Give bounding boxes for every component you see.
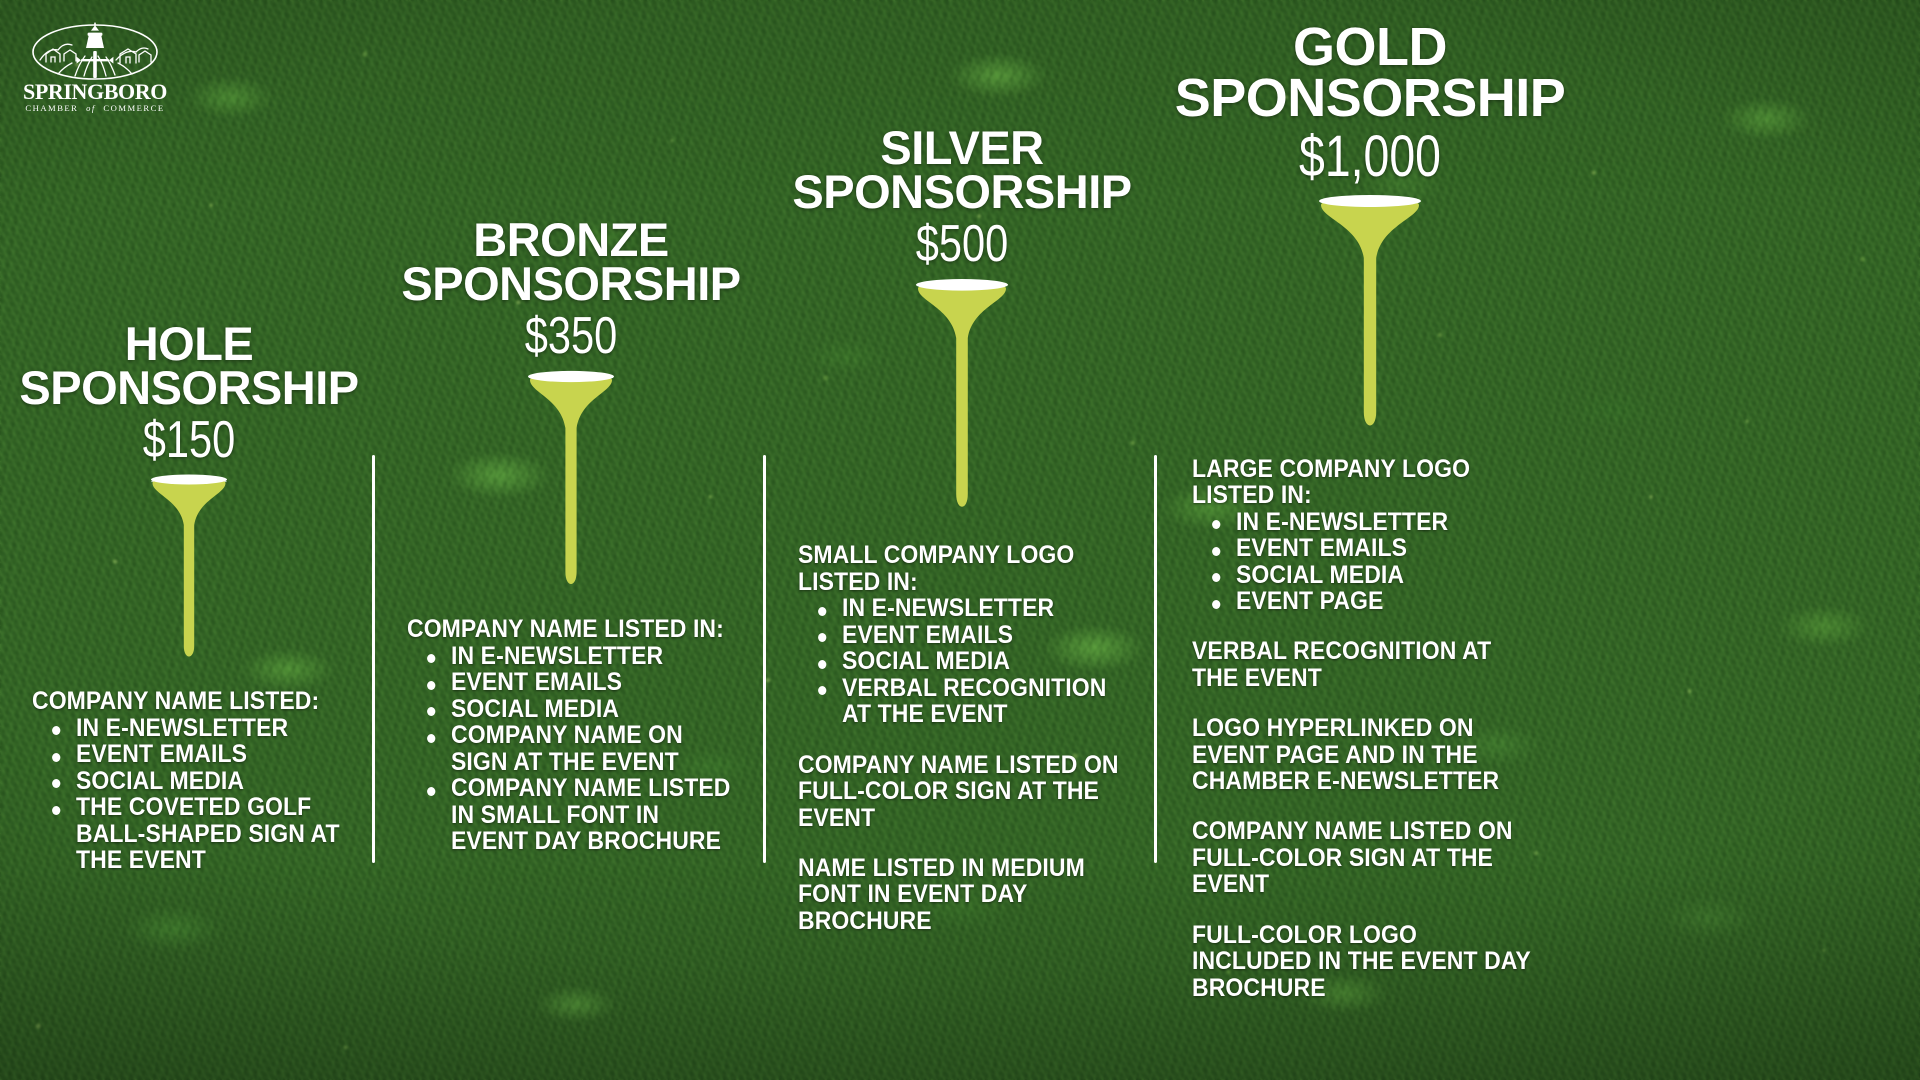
spacer	[1192, 898, 1570, 922]
list-item: SOCIAL MEDIA	[1236, 562, 1543, 589]
golf-tee-icon-bronze	[385, 366, 757, 598]
divider-1	[372, 455, 375, 863]
logo-subwordmark-commerce: COMMERCE	[103, 103, 164, 113]
tier-benefits-list: IN E-NEWSLETTER EVENT EMAILS SOCIAL MEDI…	[1192, 509, 1570, 615]
tier-title-hole: HOLE SPONSORSHIP	[10, 322, 368, 410]
tier-price-hole: $150	[46, 414, 332, 466]
svg-text:CHAMBER of COM: CHAMBER of COMMERCE	[25, 103, 164, 113]
tier-card-gold: GOLD SPONSORSHIP $1,000 LARGE COMPANY LO…	[1170, 22, 1570, 1001]
tier-title-silver: SILVER SPONSORSHIP	[776, 126, 1148, 214]
tier-title-line2: SPONSORSHIP	[1170, 73, 1570, 124]
list-item: EVENT EMAILS	[1236, 535, 1543, 562]
tier-title-line1: SILVER	[776, 126, 1148, 170]
list-item: EVENT EMAILS	[76, 741, 345, 768]
list-item: EVENT PAGE	[1236, 588, 1543, 615]
tier-card-bronze: BRONZE SPONSORSHIP $350 COMPANY NAME LIS…	[385, 218, 757, 855]
list-item: IN E-NEWSLETTER	[842, 595, 1124, 622]
tier-benefit-paragraph: COMPANY NAME LISTED ON FULL-COLOR SIGN A…	[798, 752, 1120, 832]
tier-title-bronze: BRONZE SPONSORSHIP	[385, 218, 757, 306]
list-item: COMPANY NAME ON SIGN AT THE EVENT	[451, 722, 733, 775]
spacer	[798, 728, 1148, 752]
golf-tee-icon-hole	[10, 470, 368, 670]
list-item: SOCIAL MEDIA	[842, 648, 1124, 675]
list-item: IN E-NEWSLETTER	[451, 643, 733, 670]
springboro-chamber-logo[interactable]: SPRINGBORO CHAMBER of COMMERCE	[20, 18, 170, 114]
list-item: EVENT EMAILS	[842, 622, 1124, 649]
tier-benefits-hole: COMPANY NAME LISTED: IN E-NEWSLETTER EVE…	[10, 688, 368, 874]
golf-tee-icon-gold	[1170, 190, 1570, 440]
spacer	[1192, 615, 1570, 639]
divider-3	[1154, 455, 1157, 863]
spacer	[1192, 691, 1570, 715]
list-item: IN E-NEWSLETTER	[1236, 509, 1543, 536]
list-item: COMPANY NAME LISTED IN SMALL FONT IN EVE…	[451, 775, 733, 855]
tier-benefits-gold: LARGE COMPANY LOGO LISTED IN: IN E-NEWSL…	[1170, 456, 1570, 1002]
list-item: VERBAL RECOGNITION AT THE EVENT	[842, 675, 1124, 728]
tier-title-gold: GOLD SPONSORSHIP	[1170, 22, 1570, 124]
tier-benefits-list: IN E-NEWSLETTER EVENT EMAILS SOCIAL MEDI…	[798, 595, 1148, 728]
list-item: THE COVETED GOLF BALL-SHAPED SIGN AT THE…	[76, 794, 345, 874]
spacer	[1192, 795, 1570, 819]
logo-wordmark: SPRINGBORO	[23, 79, 167, 104]
list-item: SOCIAL MEDIA	[451, 696, 733, 723]
tier-benefit-paragraph: NAME LISTED IN MEDIUM FONT IN EVENT DAY …	[798, 855, 1120, 935]
tier-price-silver: $500	[813, 218, 1111, 270]
tier-benefit-paragraph: LOGO HYPERLINKED ON EVENT PAGE AND IN TH…	[1192, 715, 1540, 795]
tier-price-bronze: $350	[422, 310, 720, 362]
tier-benefits-lead: LARGE COMPANY LOGO LISTED IN:	[1192, 456, 1540, 509]
tier-benefits-lead: COMPANY NAME LISTED:	[32, 688, 341, 715]
tier-benefits-lead: COMPANY NAME LISTED IN:	[407, 616, 729, 643]
golf-tee-icon-silver	[776, 274, 1148, 522]
list-item: EVENT EMAILS	[451, 669, 733, 696]
tier-benefits-bronze: COMPANY NAME LISTED IN: IN E-NEWSLETTER …	[385, 616, 757, 855]
list-item: IN E-NEWSLETTER	[76, 715, 345, 742]
tier-title-line1: BRONZE	[385, 218, 757, 262]
tier-title-line1: HOLE	[10, 322, 368, 366]
tier-benefits-lead: SMALL COMPANY LOGO LISTED IN:	[798, 542, 1120, 595]
tier-card-hole: HOLE SPONSORSHIP $150 COMPANY NAME LISTE…	[10, 322, 368, 874]
tier-benefits-silver: SMALL COMPANY LOGO LISTED IN: IN E-NEWSL…	[776, 542, 1148, 934]
logo-subwordmark-of: of	[86, 103, 96, 113]
tier-title-line2: SPONSORSHIP	[10, 366, 368, 410]
tier-benefits-list: IN E-NEWSLETTER EVENT EMAILS SOCIAL MEDI…	[32, 715, 368, 874]
tier-title-line2: SPONSORSHIP	[385, 262, 757, 306]
divider-2	[763, 455, 766, 863]
tier-benefit-paragraph: FULL-COLOR LOGO INCLUDED IN THE EVENT DA…	[1192, 922, 1540, 1002]
spacer	[798, 831, 1148, 855]
logo-subwordmark-chamber: CHAMBER	[25, 103, 78, 113]
tier-benefit-paragraph: VERBAL RECOGNITION AT THE EVENT	[1192, 638, 1540, 691]
list-item: SOCIAL MEDIA	[76, 768, 345, 795]
tier-title-line1: GOLD	[1170, 22, 1570, 73]
poster-canvas: SPRINGBORO CHAMBER of COMMERCE HOLE SPON…	[0, 0, 1920, 1080]
tier-benefits-list: IN E-NEWSLETTER EVENT EMAILS SOCIAL MEDI…	[407, 643, 757, 855]
tier-benefit-paragraph: COMPANY NAME LISTED ON FULL-COLOR SIGN A…	[1192, 818, 1540, 898]
tier-price-gold: $1,000	[1210, 128, 1530, 186]
tier-title-line2: SPONSORSHIP	[776, 170, 1148, 214]
tier-card-silver: SILVER SPONSORSHIP $500 SMALL COMPANY LO…	[776, 126, 1148, 934]
